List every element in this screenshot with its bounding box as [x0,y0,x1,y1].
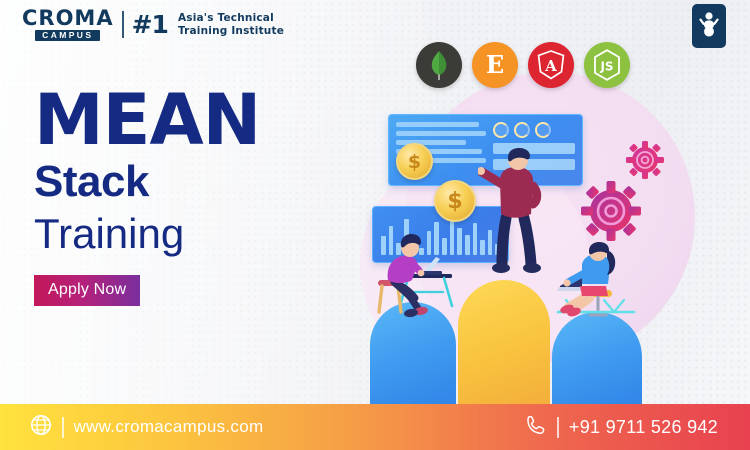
footer-website-group[interactable]: www.cromacampus.com [30,414,263,441]
express-icon-letter: E [486,53,504,77]
headline-line-3: Training [34,210,260,258]
tagline-line-2: Training Institute [178,25,284,37]
tech-stack-icons: E A JS [416,42,630,88]
svg-text:A: A [544,57,557,75]
headline-line-2: Stack [34,156,260,208]
panel-line [396,131,486,136]
footer-divider-left [62,417,64,438]
illustration: E A JS [330,30,750,420]
headline-line-1: MEAN [34,88,260,152]
phone-icon [525,414,547,441]
gear-small-icon [625,140,665,185]
chart-bar [473,223,478,255]
apply-now-button[interactable]: Apply Now [34,275,140,306]
person-raised-arms-icon [692,4,726,48]
footer-website-text[interactable]: www.cromacampus.com [74,417,264,437]
angular-icon: A [528,42,574,88]
logo-campus-text: CAMPUS [35,30,100,41]
svg-text:JS: JS [599,60,613,74]
pedestal-center [458,280,550,422]
footer-bar: www.cromacampus.com +91 9711 526 942 [0,404,750,450]
character-center-presenter [478,148,558,293]
tagline-line-1: Asia's Technical [178,12,284,24]
donut-chart-icon [514,122,530,138]
panel-line [396,122,479,127]
promo-banner: CROMA CAMPUS #1 Asia's Technical Trainin… [0,0,750,450]
coin-icon: $ [434,180,476,222]
character-left-developer [374,230,466,330]
brand-logo[interactable]: CROMA CAMPUS #1 Asia's Technical Trainin… [22,8,284,41]
hero-headline: MEAN Stack Training Apply Now [34,88,260,306]
mongodb-icon [416,42,462,88]
coin-icon: $ [396,143,433,180]
character-right-developer [552,242,644,339]
gear-large-icon [580,180,642,247]
footer-phone-group[interactable]: +91 9711 526 942 [525,414,718,441]
nodejs-icon: JS [584,42,630,88]
globe-icon [30,414,52,441]
footer-divider-right [557,417,559,438]
logo-divider [122,11,124,38]
donut-chart-row [493,122,575,138]
express-icon: E [472,42,518,88]
footer-phone-text[interactable]: +91 9711 526 942 [569,417,718,438]
logo-text-block: CROMA CAMPUS [22,8,114,41]
tagline: Asia's Technical Training Institute [178,12,284,36]
rank-number: #1 [132,12,168,37]
logo-croma-text: CROMA [22,8,114,29]
donut-chart-icon [535,122,551,138]
donut-chart-icon [493,122,509,138]
